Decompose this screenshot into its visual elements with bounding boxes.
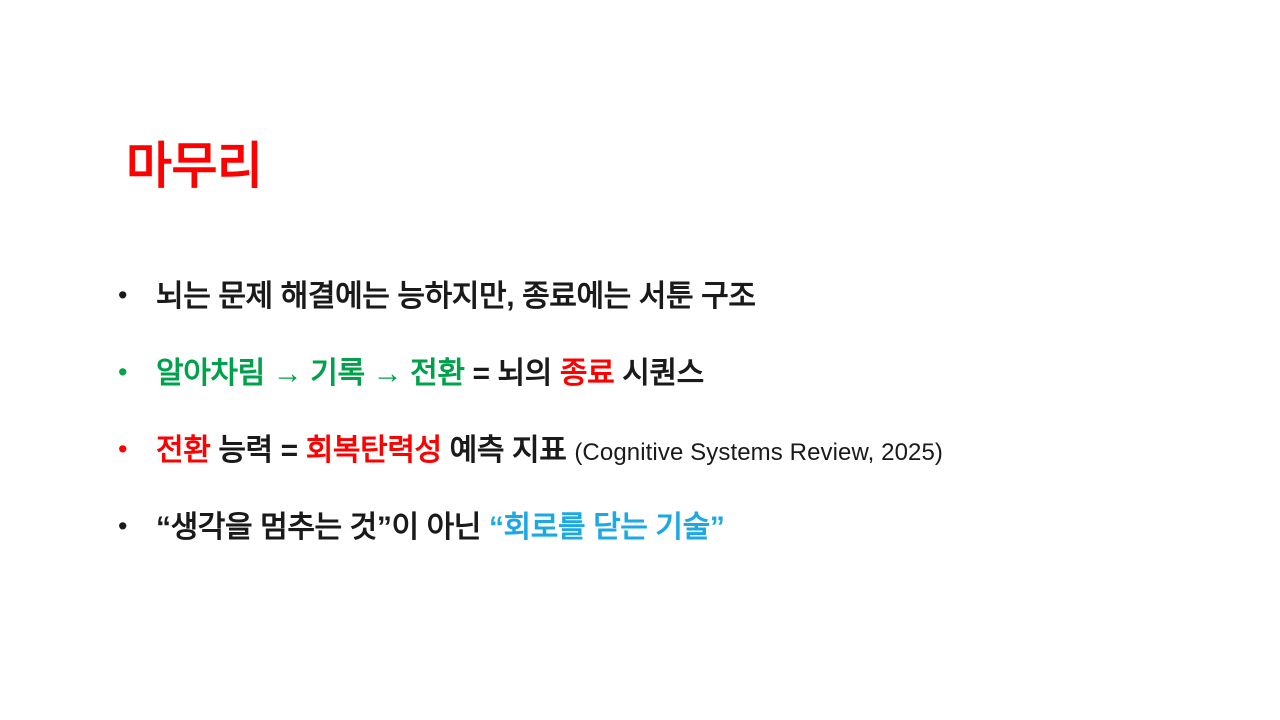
text-segment: 종료	[560, 357, 614, 390]
slide-canvas: 마무리 • 뇌는 문제 해결에는 능하지만, 종료에는 서툰 구조 • 알아차림…	[0, 0, 1280, 720]
bullet-marker-icon: •	[118, 275, 156, 315]
bullet-marker-icon: •	[118, 506, 156, 546]
text-segment: “생각을 멈추는 것”이 아닌	[156, 511, 489, 544]
text-segment: 능력 =	[210, 434, 305, 467]
text-segment: 뇌는 문제 해결에는 능하지만, 종료에는 서툰 구조	[156, 280, 756, 313]
list-item-text: 알아차림 → 기록 → 전환 = 뇌의 종료 시퀀스	[156, 354, 704, 394]
bullet-marker-icon: •	[118, 352, 156, 392]
bullet-list: • 뇌는 문제 해결에는 능하지만, 종료에는 서툰 구조 • 알아차림 → 기…	[118, 277, 1168, 585]
text-segment: 시퀀스	[614, 357, 704, 390]
list-item-text: 뇌는 문제 해결에는 능하지만, 종료에는 서툰 구조	[156, 277, 756, 317]
list-item-text: “생각을 멈추는 것”이 아닌 “회로를 닫는 기술”	[156, 508, 724, 548]
citation-text: (Cognitive Systems Review, 2025)	[574, 439, 943, 466]
list-item: • “생각을 멈추는 것”이 아닌 “회로를 닫는 기술”	[118, 508, 1168, 585]
list-item: • 알아차림 → 기록 → 전환 = 뇌의 종료 시퀀스	[118, 354, 1168, 431]
bullet-marker-icon: •	[118, 429, 156, 469]
list-item: • 전환 능력 = 회복탄력성 예측 지표 (Cognitive Systems…	[118, 431, 1168, 508]
list-item-text: 전환 능력 = 회복탄력성 예측 지표 (Cognitive Systems R…	[156, 431, 943, 473]
text-segment: 예측 지표	[442, 434, 575, 467]
text-segment: 알아차림 → 기록 → 전환	[156, 357, 465, 390]
list-item: • 뇌는 문제 해결에는 능하지만, 종료에는 서툰 구조	[118, 277, 1168, 354]
text-segment: “회로를 닫는 기술”	[489, 511, 724, 544]
text-segment: 회복탄력성	[306, 434, 442, 467]
text-segment: = 뇌의	[465, 357, 560, 390]
text-segment: 전환	[156, 434, 210, 467]
page-title: 마무리	[126, 138, 263, 194]
